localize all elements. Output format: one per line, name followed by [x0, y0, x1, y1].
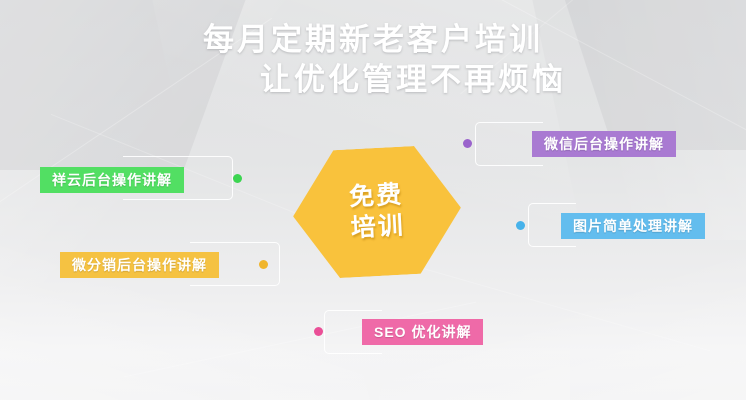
- label-chip-weixin[interactable]: 微信后台操作讲解: [532, 131, 676, 157]
- background-shade: [0, 0, 256, 170]
- headline-block: 每月定期新老客户培训 让优化管理不再烦恼: [0, 20, 746, 100]
- connector-dot-xiangyun: [233, 174, 242, 183]
- connector-dot-weifenxiao: [259, 260, 268, 269]
- background-crease: [483, 0, 746, 131]
- connector-dot-seo: [314, 327, 323, 336]
- label-chip-seo[interactable]: SEO 优化讲解: [362, 319, 483, 345]
- hexagon-label: 免费 培训: [290, 144, 464, 281]
- label-chip-tupian[interactable]: 图片简单处理讲解: [561, 213, 705, 239]
- background-shade: [558, 0, 746, 150]
- hexagon-label-line-1: 免费: [348, 180, 404, 214]
- label-chip-xiangyun[interactable]: 祥云后台操作讲解: [40, 167, 184, 193]
- headline-line-1: 每月定期新老客户培训: [0, 20, 746, 60]
- label-chip-weifenxiao[interactable]: 微分销后台操作讲解: [60, 252, 219, 278]
- background-facet: [440, 0, 746, 240]
- hexagon-label-line-2: 培训: [350, 211, 406, 245]
- headline-line-2: 让优化管理不再烦恼: [0, 60, 746, 100]
- center-hexagon[interactable]: 免费 培训: [293, 148, 461, 276]
- connector-dot-weixin: [463, 139, 472, 148]
- background-crease: [460, 0, 660, 94]
- promo-banner: 每月定期新老客户培训 让优化管理不再烦恼 免费 培训 祥云后台操作讲解 微分销后…: [0, 0, 746, 400]
- connector-dot-tupian: [516, 221, 525, 230]
